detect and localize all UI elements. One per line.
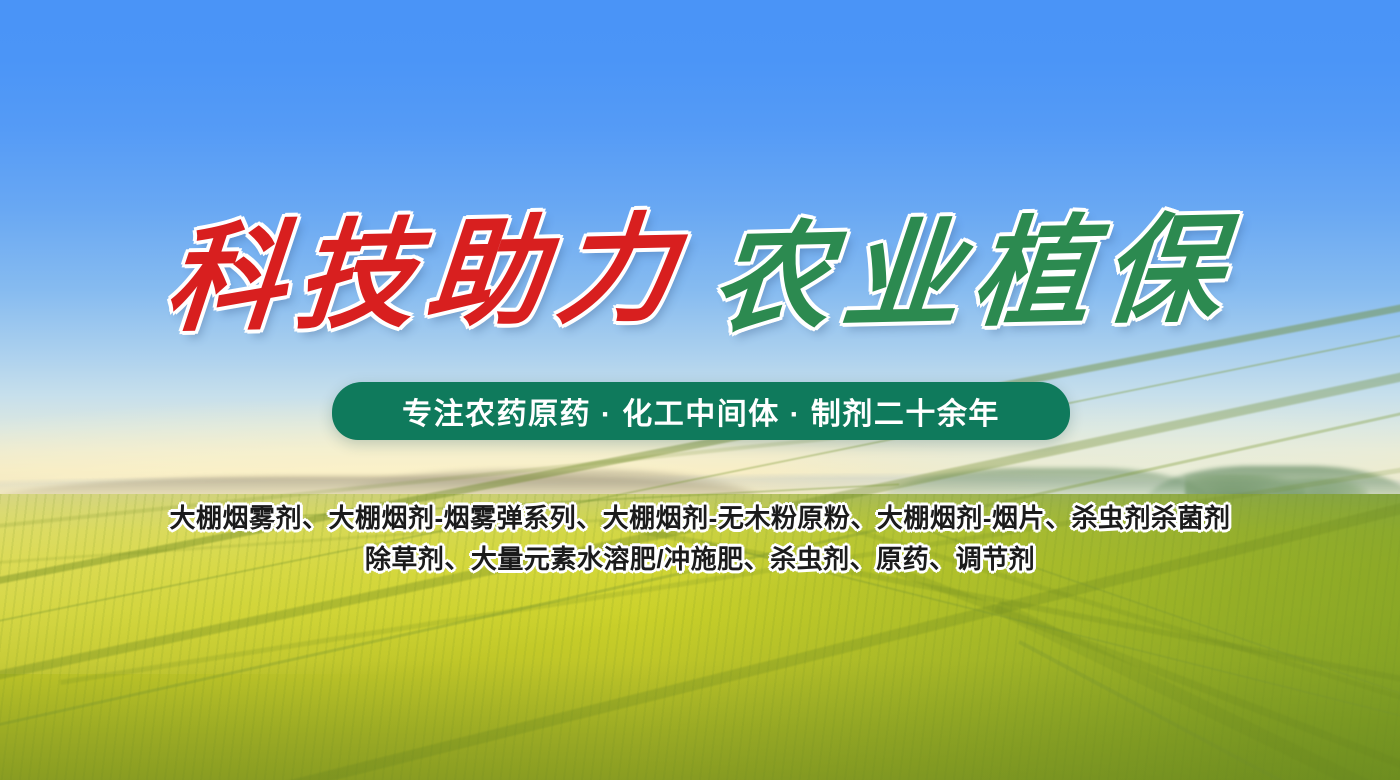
product-line: 大棚烟雾剂、大棚烟剂-烟雾弹系列、大棚烟剂-无木粉原粉、大棚烟剂-烟片、杀虫剂杀… [0, 498, 1400, 539]
product-line: 除草剂、大量元素水溶肥/冲施肥、杀虫剂、原药、调节剂 [0, 539, 1400, 580]
headline-segment-green: 农业植保 [707, 201, 1239, 348]
product-list: 大棚烟雾剂、大棚烟剂-烟雾弹系列、大棚烟剂-无木粉原粉、大棚烟剂-烟片、杀虫剂杀… [0, 498, 1400, 580]
headline: 科技助力农业植保 [0, 206, 1400, 342]
field-foreground-shadow [0, 660, 1400, 780]
headline-segment-red: 科技助力 [161, 201, 693, 348]
promo-banner: 科技助力农业植保 专注农药原药 · 化工中间体 · 制剂二十余年 大棚烟雾剂、大… [0, 0, 1400, 780]
subtitle-pill: 专注农药原药 · 化工中间体 · 制剂二十余年 [332, 382, 1070, 440]
subtitle-pill-text: 专注农药原药 · 化工中间体 · 制剂二十余年 [402, 389, 1000, 433]
